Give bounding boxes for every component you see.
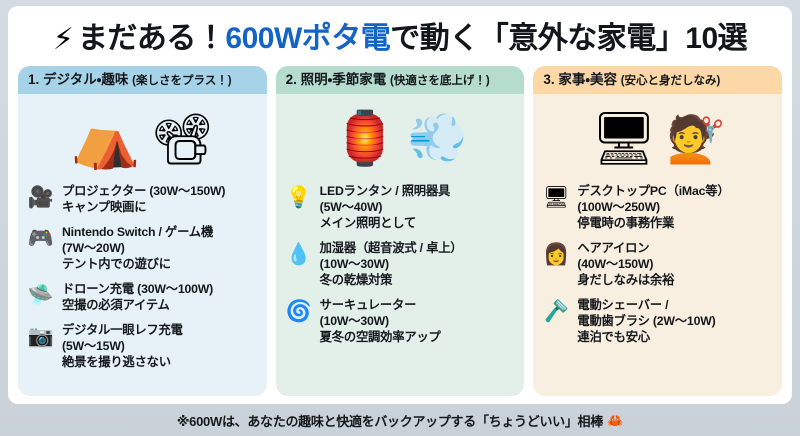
list-item-line1: サーキュレーター (320, 298, 517, 314)
lantern-icon: 🏮 (333, 113, 398, 165)
infographic-page: ⚡ まだある！600Wポタ電で動く「意外な家電」10選 1. デジタル・趣味 (… (0, 0, 800, 436)
list-item-line2: (5W〜15W) (62, 339, 259, 355)
list-item-line3: 停電時の事務作業 (577, 216, 774, 232)
list-item-line3: 冬の乾燥対策 (320, 273, 517, 289)
footer-note: ※600Wは、あなたの趣味と快適をバックアップする「ちょうどいい」相棒 🦀 (0, 404, 800, 436)
list-item-text: LEDランタン / 照明器具 (5W〜40W) メイン照明として (320, 184, 517, 232)
list-item-text: デスクトップPC（iMac等） (100W〜250W) 停電時の事務作業 (577, 184, 774, 232)
list-item: 📷 デジタル一眼レフ充電 (5W〜15W) 絶景を撮り逃さない (27, 323, 259, 371)
list-item-text: Nintendo Switch / ゲーム機 (7W〜20W) テント内での遊び… (62, 225, 259, 273)
card-header-1-sub: (楽しさをプラス！) (132, 75, 231, 87)
footer-text: ※600Wは、あなたの趣味と快適をバックアップする「ちょうどいい」相棒 (177, 411, 603, 430)
list-item-line3: テント内での遊びに (62, 257, 259, 273)
list-item-line1: デジタル一眼レフ充電 (62, 323, 259, 339)
list-item-line2: キャンプ映画に (62, 200, 259, 216)
card-header-1-main: 1. デジタル・趣味 (28, 72, 128, 87)
list-item-text: プロジェクター (30W〜150W) キャンプ映画に (62, 184, 259, 216)
list-item-line2: (100W〜250W) (577, 200, 774, 216)
water-drop-icon: 💧 (285, 241, 313, 267)
game-controller-icon: 🎮 (27, 225, 55, 251)
list-item-line2: (10W〜30W) (320, 257, 517, 273)
list-item-line1: 電動シェーバー / (577, 298, 774, 314)
humidifier-icon: 💨 (408, 115, 468, 163)
list-item-line1: ヘアアイロン (577, 241, 774, 257)
card-item-list-1: 🎥 プロジェクター (30W〜150W) キャンプ映画に 🎮 Nintendo … (18, 180, 267, 396)
page-title: ⚡ まだある！600Wポタ電で動く「意外な家電」10選 (18, 12, 782, 66)
list-item-text: サーキュレーター (10W〜30W) 夏冬の空調効率アップ (320, 298, 517, 346)
camera-icon: 📷 (27, 323, 55, 349)
list-item-text: デジタル一眼レフ充電 (5W〜15W) 絶景を撮り逃さない (62, 323, 259, 371)
card-header-2: 2. 照明・季節家電 (快適さを底上げ！) (276, 66, 525, 94)
lightning-bolt-icon: ⚡ (53, 25, 74, 55)
list-item-text: 加湿器（超音波式 / 卓上） (10W〜30W) 冬の乾燥対策 (320, 241, 517, 289)
card-item-list-3: 🖥 デスクトップPC（iMac等） (100W〜250W) 停電時の事務作業 👩… (533, 180, 782, 396)
projector-screen-icon: 📽 (150, 114, 213, 164)
list-item-line1: 加湿器（超音波式 / 卓上） (320, 241, 517, 257)
tent-icon: ⛺ (71, 111, 141, 167)
list-item: 🎮 Nintendo Switch / ゲーム機 (7W〜20W) テント内での… (27, 225, 259, 273)
list-item-line2: 電動歯ブラシ (2W〜10W) (577, 314, 774, 330)
list-item-line1: LEDランタン / 照明器具 (320, 184, 517, 200)
list-item: 💡 LEDランタン / 照明器具 (5W〜40W) メイン照明として (285, 184, 517, 232)
light-bulb-icon: 💡 (285, 184, 313, 210)
list-item-line2: (7W〜20W) (62, 241, 259, 257)
hair-straightener-icon: 💇 (667, 116, 724, 162)
list-item-text: ヘアアイロン (40W〜150W) 身だしなみは余裕 (577, 241, 774, 289)
card-header-3-sub: (安心と身だしなみ) (621, 75, 721, 87)
list-item-line2: (10W〜30W) (320, 314, 517, 330)
list-item-line2: (40W〜150W) (577, 257, 774, 273)
card-hero-illustration-1: ⛺ 📽 (18, 94, 267, 180)
list-item-line2: 空撮の必須アイテム (62, 298, 259, 314)
list-item-line3: 絶景を撮り逃さない (62, 355, 259, 371)
category-card-housework-beauty: 3. 家事・美容 (安心と身だしなみ) 🖥 💇 🖥 デスクトップPC（iMac等… (533, 66, 782, 396)
crab-icon: 🦀 (607, 414, 623, 427)
category-card-digital-hobby: 1. デジタル・趣味 (楽しさをプラス！) ⛺ 📽 🎥 プロジェクター (30W… (18, 66, 267, 396)
title-text: まだある！600Wポタ電で動く「意外な家電」10選 (78, 24, 747, 54)
category-columns: 1. デジタル・趣味 (楽しさをプラス！) ⛺ 📽 🎥 プロジェクター (30W… (18, 66, 782, 396)
list-item-line1: ドローン充電 (30W〜100W) (62, 282, 259, 298)
category-card-lighting-seasonal: 2. 照明・季節家電 (快適さを底上げ！) 🏮 💨 💡 LEDランタン / 照明… (276, 66, 525, 396)
card-header-2-sub: (快適さを底上げ！) (390, 75, 490, 87)
white-sheet: ⚡ まだある！600Wポタ電で動く「意外な家電」10選 1. デジタル・趣味 (… (8, 6, 792, 404)
card-header-3-main: 3. 家事・美容 (543, 72, 617, 87)
card-hero-illustration-2: 🏮 💨 (276, 94, 525, 180)
list-item: 🪒 電動シェーバー / 電動歯ブラシ (2W〜10W) 連泊でも安心 (542, 298, 774, 346)
list-item-line1: プロジェクター (30W〜150W) (62, 184, 259, 200)
title-highlight: 600Wポタ電 (225, 22, 390, 55)
title-suffix: で動く「意外な家電」10選 (390, 22, 747, 55)
list-item: 🌀 サーキュレーター (10W〜30W) 夏冬の空調効率アップ (285, 298, 517, 346)
list-item: 🎥 プロジェクター (30W〜150W) キャンプ映画に (27, 184, 259, 216)
list-item: 👩 ヘアアイロン (40W〜150W) 身だしなみは余裕 (542, 241, 774, 289)
card-item-list-2: 💡 LEDランタン / 照明器具 (5W〜40W) メイン照明として 💧 加湿器… (276, 180, 525, 396)
movie-camera-icon: 🎥 (27, 184, 55, 210)
list-item-line3: メイン照明として (320, 216, 517, 232)
list-item: 🛸 ドローン充電 (30W〜100W) 空撮の必須アイテム (27, 282, 259, 314)
card-hero-illustration-3: 🖥 💇 (533, 94, 782, 180)
imac-desktop-icon: 🖥 (591, 113, 657, 165)
list-item-line3: 身だしなみは余裕 (577, 273, 774, 289)
list-item-text: 電動シェーバー / 電動歯ブラシ (2W〜10W) 連泊でも安心 (577, 298, 774, 346)
card-header-3: 3. 家事・美容 (安心と身だしなみ) (533, 66, 782, 94)
list-item-line1: Nintendo Switch / ゲーム機 (62, 225, 259, 241)
drone-ufo-icon: 🛸 (27, 282, 55, 308)
circulator-fan-icon: 🌀 (285, 298, 313, 324)
list-item-line1: デスクトップPC（iMac等） (577, 184, 774, 200)
list-item-text: ドローン充電 (30W〜100W) 空撮の必須アイテム (62, 282, 259, 314)
hair-iron-person-icon: 👩 (542, 241, 570, 267)
list-item-line3: 夏冬の空調効率アップ (320, 330, 517, 346)
title-prefix: まだある！ (78, 22, 226, 55)
card-header-1: 1. デジタル・趣味 (楽しさをプラス！) (18, 66, 267, 94)
list-item-line2: (5W〜40W) (320, 200, 517, 216)
list-item-line3: 連泊でも安心 (577, 330, 774, 346)
list-item: 🖥 デスクトップPC（iMac等） (100W〜250W) 停電時の事務作業 (542, 184, 774, 232)
desktop-computer-icon: 🖥 (542, 184, 570, 210)
electric-shaver-icon: 🪒 (542, 298, 570, 324)
list-item: 💧 加湿器（超音波式 / 卓上） (10W〜30W) 冬の乾燥対策 (285, 241, 517, 289)
card-header-2-main: 2. 照明・季節家電 (286, 72, 387, 87)
